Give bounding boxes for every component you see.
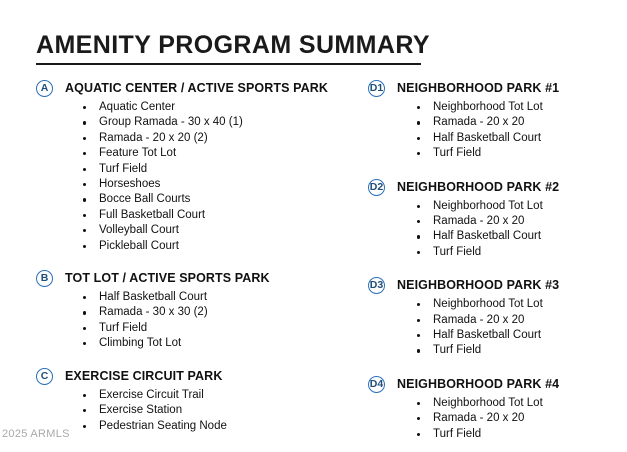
section-header: B TOT LOT / ACTIVE SPORTS PARK (36, 270, 366, 288)
list-item: Group Ramada - 30 x 40 (1) (65, 115, 366, 130)
list-item: Pickleball Court (65, 239, 366, 254)
list-item: Volleyball Court (65, 223, 366, 238)
section-aquatic-center: A AQUATIC CENTER / ACTIVE SPORTS PARK Aq… (36, 80, 366, 254)
section-item-list: Neighborhood Tot Lot Ramada - 20 x 20 Ha… (368, 297, 618, 359)
document-page: AMENITY PROGRAM SUMMARY A AQUATIC CENTER… (0, 0, 627, 443)
section-badge-d2: D2 (368, 179, 385, 196)
section-title: TOT LOT / ACTIVE SPORTS PARK (65, 271, 270, 285)
list-item: Neighborhood Tot Lot (397, 297, 618, 312)
list-item: Ramada - 30 x 30 (2) (65, 305, 366, 320)
list-item: Turf Field (397, 146, 618, 161)
right-column: D1 NEIGHBORHOOD PARK #1 Neighborhood Tot… (368, 80, 618, 452)
list-item: Turf Field (65, 321, 366, 336)
title-underline (36, 63, 421, 65)
list-item: Ramada - 20 x 20 (397, 214, 618, 229)
list-item: Horseshoes (65, 177, 366, 192)
list-item: Neighborhood Tot Lot (397, 396, 618, 411)
list-item: Ramada - 20 x 20 (397, 313, 618, 328)
section-header: A AQUATIC CENTER / ACTIVE SPORTS PARK (36, 80, 366, 98)
list-item: Turf Field (397, 427, 618, 442)
section-title: EXERCISE CIRCUIT PARK (65, 369, 222, 383)
section-header: D2 NEIGHBORHOOD PARK #2 (368, 179, 618, 197)
list-item: Half Basketball Court (397, 131, 618, 146)
list-item: Turf Field (397, 343, 618, 358)
list-item: Ramada - 20 x 20 (2) (65, 131, 366, 146)
list-item: Aquatic Center (65, 100, 366, 115)
list-item: Pedestrian Seating Node (65, 419, 366, 434)
section-header: D1 NEIGHBORHOOD PARK #1 (368, 80, 618, 98)
section-badge-d1: D1 (368, 80, 385, 97)
list-item: Half Basketball Court (397, 328, 618, 343)
list-item: Neighborhood Tot Lot (397, 199, 618, 214)
mls-watermark: 2025 ARMLS (2, 428, 70, 440)
list-item: Half Basketball Court (397, 229, 618, 244)
section-header: D3 NEIGHBORHOOD PARK #3 (368, 277, 618, 295)
section-badge-b: B (36, 270, 53, 287)
list-item: Turf Field (397, 245, 618, 260)
section-header: D4 NEIGHBORHOOD PARK #4 (368, 376, 618, 394)
section-neighborhood-park-1: D1 NEIGHBORHOOD PARK #1 Neighborhood Tot… (368, 80, 618, 162)
list-item: Feature Tot Lot (65, 146, 366, 161)
section-item-list: Neighborhood Tot Lot Ramada - 20 x 20 Ha… (368, 199, 618, 261)
section-badge-c: C (36, 368, 53, 385)
section-exercise-circuit: C EXERCISE CIRCUIT PARK Exercise Circuit… (36, 368, 366, 434)
section-item-list: Exercise Circuit Trail Exercise Station … (36, 388, 366, 434)
section-neighborhood-park-2: D2 NEIGHBORHOOD PARK #2 Neighborhood Tot… (368, 179, 618, 261)
section-tot-lot: B TOT LOT / ACTIVE SPORTS PARK Half Bask… (36, 270, 366, 352)
section-title: NEIGHBORHOOD PARK #2 (397, 180, 559, 194)
section-badge-d4: D4 (368, 376, 385, 393)
section-title: AQUATIC CENTER / ACTIVE SPORTS PARK (65, 81, 328, 95)
section-neighborhood-park-4: D4 NEIGHBORHOOD PARK #4 Neighborhood Tot… (368, 376, 618, 442)
section-badge-a: A (36, 80, 53, 97)
list-item: Turf Field (65, 162, 366, 177)
list-item: Climbing Tot Lot (65, 336, 366, 351)
section-item-list: Neighborhood Tot Lot Ramada - 20 x 20 Tu… (368, 396, 618, 442)
section-title: NEIGHBORHOOD PARK #4 (397, 377, 559, 391)
section-neighborhood-park-3: D3 NEIGHBORHOOD PARK #3 Neighborhood Tot… (368, 277, 618, 359)
section-item-list: Neighborhood Tot Lot Ramada - 20 x 20 Ha… (368, 100, 618, 162)
section-item-list: Aquatic Center Group Ramada - 30 x 40 (1… (36, 100, 366, 254)
list-item: Exercise Station (65, 403, 366, 418)
left-column: A AQUATIC CENTER / ACTIVE SPORTS PARK Aq… (36, 80, 366, 444)
list-item: Bocce Ball Courts (65, 192, 366, 207)
list-item: Full Basketball Court (65, 208, 366, 223)
list-item: Neighborhood Tot Lot (397, 100, 618, 115)
section-item-list: Half Basketball Court Ramada - 30 x 30 (… (36, 290, 366, 352)
list-item: Ramada - 20 x 20 (397, 115, 618, 130)
section-badge-d3: D3 (368, 277, 385, 294)
section-header: C EXERCISE CIRCUIT PARK (36, 368, 366, 386)
page-title: AMENITY PROGRAM SUMMARY (36, 31, 430, 60)
list-item: Half Basketball Court (65, 290, 366, 305)
list-item: Ramada - 20 x 20 (397, 411, 618, 426)
section-title: NEIGHBORHOOD PARK #1 (397, 81, 559, 95)
list-item: Exercise Circuit Trail (65, 388, 366, 403)
section-title: NEIGHBORHOOD PARK #3 (397, 278, 559, 292)
